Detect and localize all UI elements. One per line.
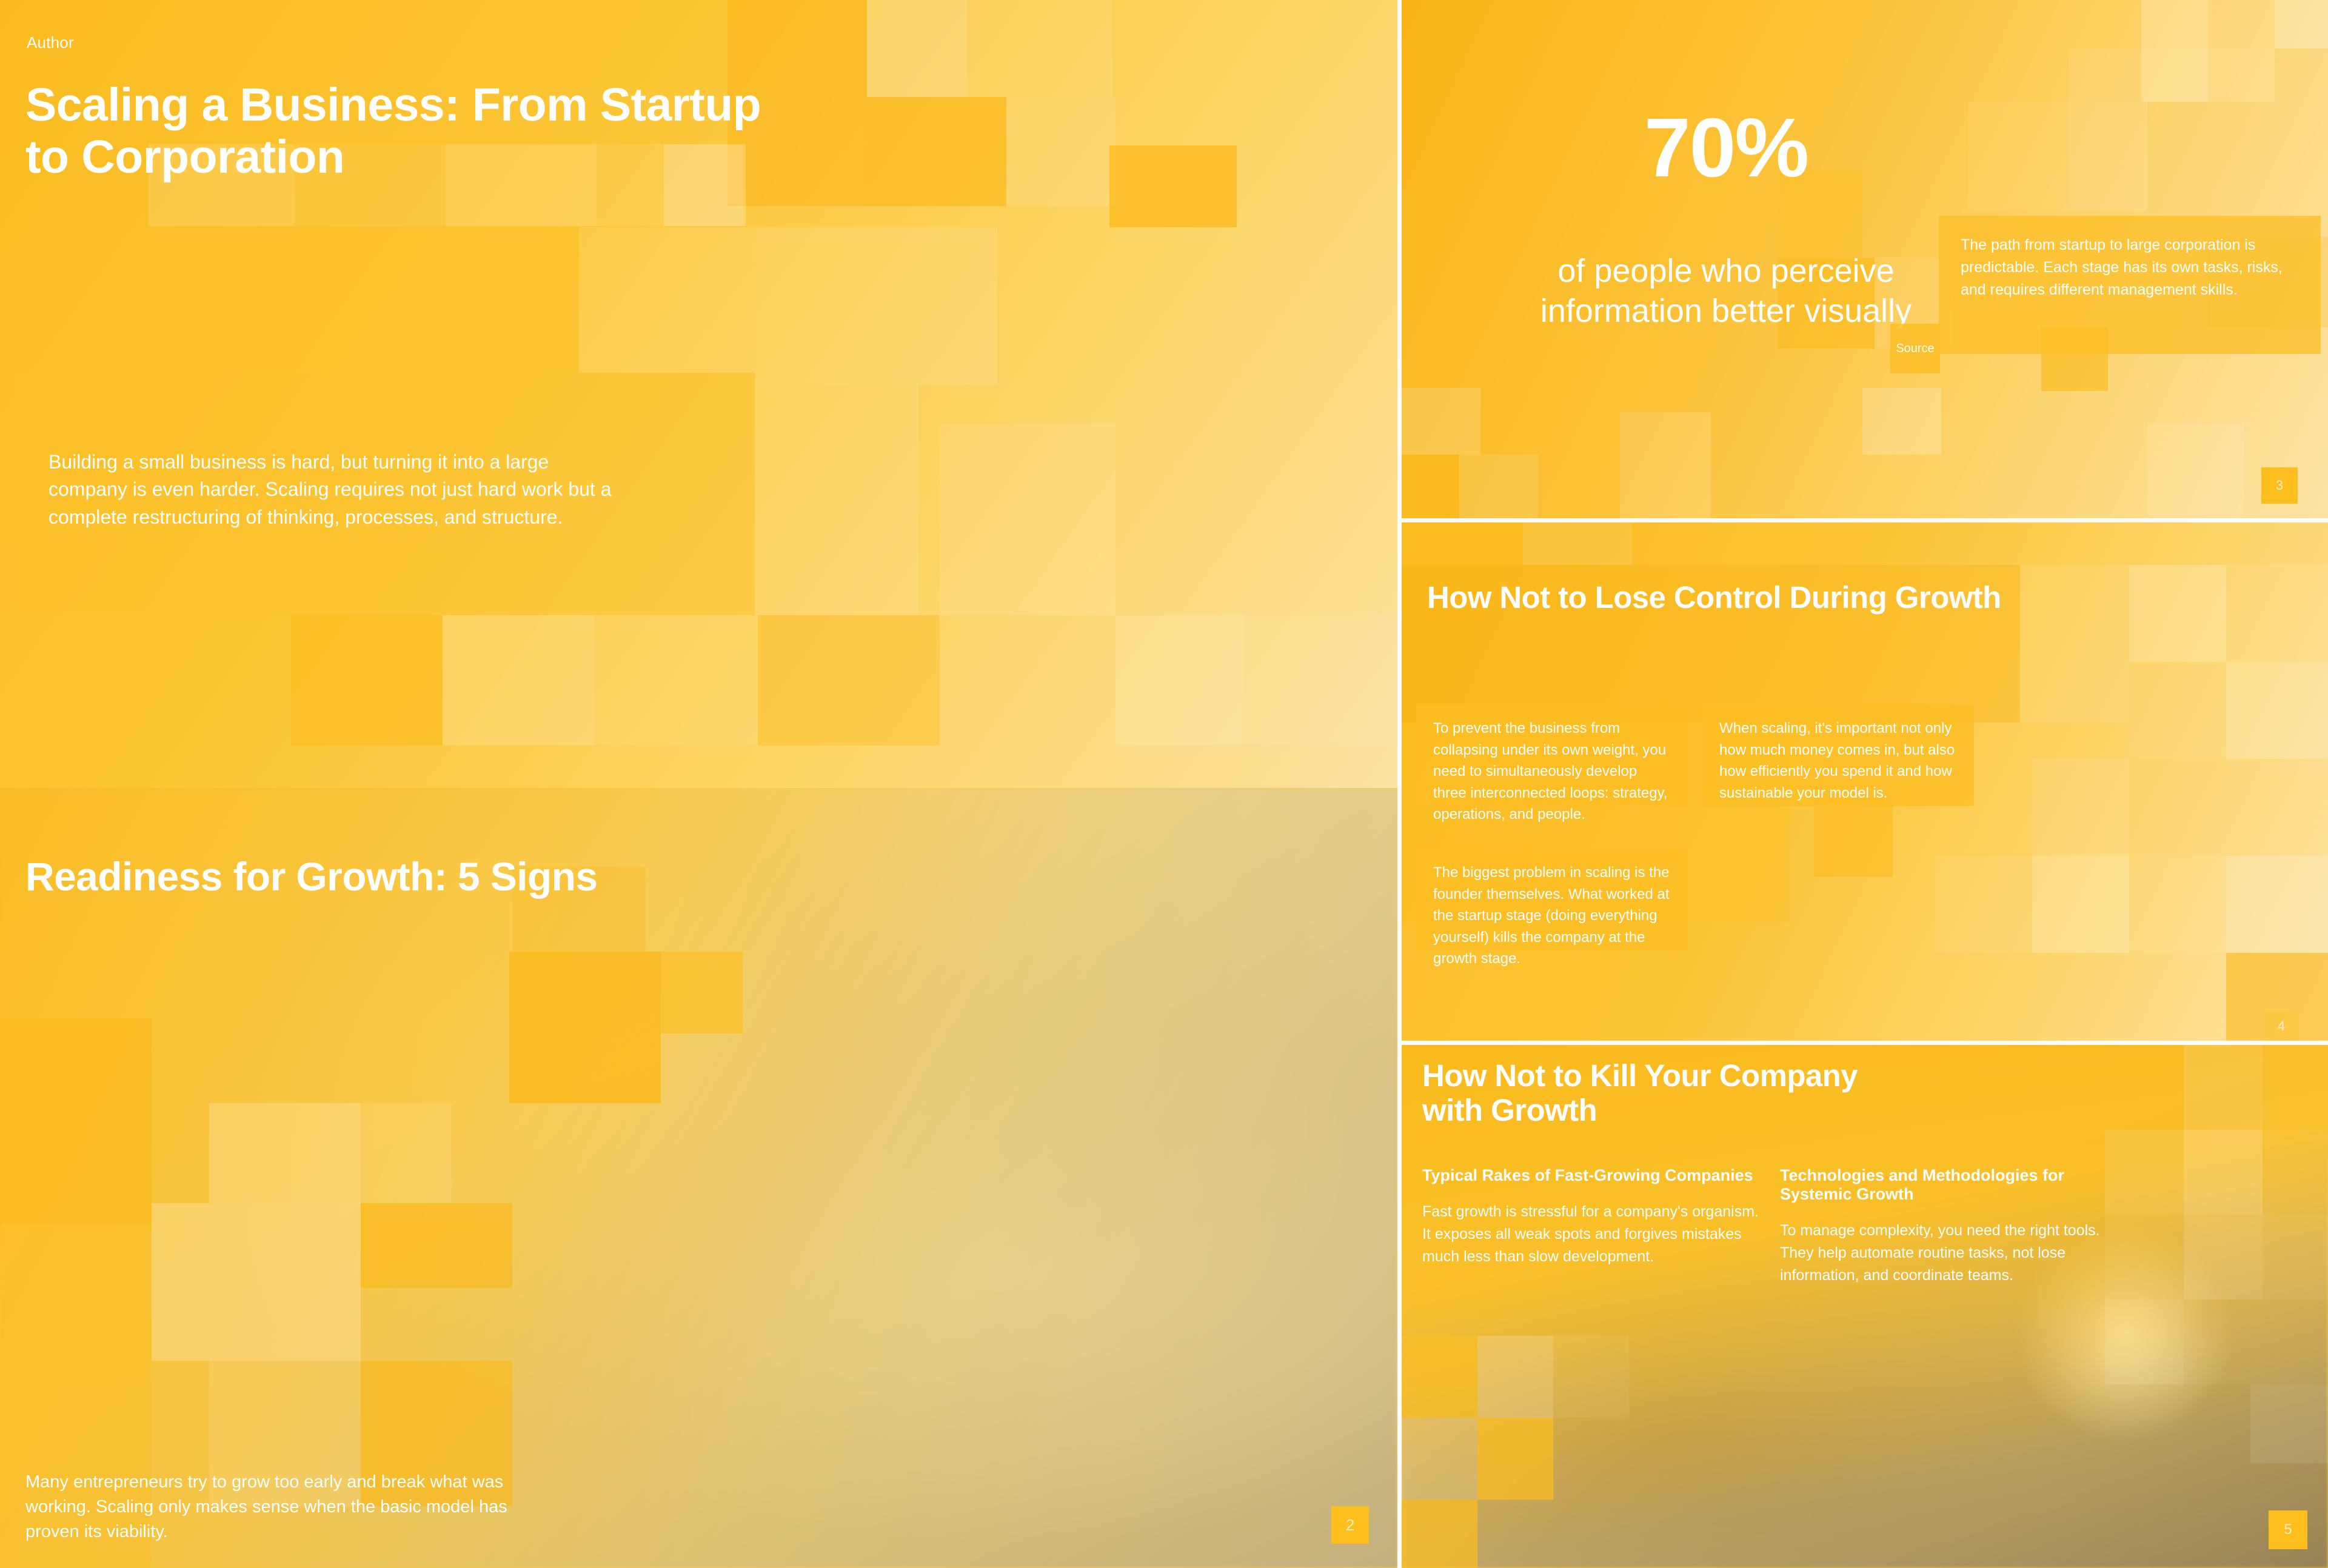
mosaic-tile: [443, 615, 594, 746]
content-column: Typical Rakes of Fast-Growing Companies …: [1422, 1166, 1762, 1263]
mosaic-tile: [361, 1203, 512, 1288]
mosaic-tile: [1968, 102, 2069, 211]
mosaic-tile: [2069, 102, 2147, 211]
page-number-badge: 3: [2261, 467, 2298, 504]
slide-kill[interactable]: How Not to Kill Your Company with Growth…: [1402, 1045, 2328, 1568]
mosaic-tile: [2032, 759, 2129, 856]
mosaic-tile: [1243, 615, 1397, 746]
stat-caption: of people who perceive information bette…: [1532, 252, 1920, 332]
mosaic-tile: [2147, 424, 2244, 518]
mosaic-tile: [2069, 48, 2141, 102]
mosaic-tile: [2226, 565, 2328, 662]
mosaic-tile: [2141, 48, 2208, 102]
slide-deck-preview: Author Scaling a Business: From Startup …: [0, 0, 2328, 1568]
content-column: Technologies and Methodologies for Syste…: [1780, 1166, 2119, 1263]
slide-title-text: How Not to Lose Control During Growth: [1427, 580, 2155, 615]
mosaic-tile: [2032, 856, 2129, 953]
slide-control[interactable]: How Not to Lose Control During Growth To…: [1402, 522, 2328, 1041]
mosaic-tile: [1109, 145, 1237, 227]
slide-title[interactable]: Author Scaling a Business: From Startup …: [0, 0, 1397, 788]
mosaic-tile: [1402, 522, 1523, 565]
mosaic-tile: [1402, 1418, 1477, 1500]
content-card-text: When scaling, it's important not only ho…: [1702, 704, 1974, 804]
mosaic-tile: [2208, 0, 2275, 48]
mosaic-tile: [579, 227, 755, 373]
source-chip[interactable]: Source: [1890, 324, 1940, 373]
mosaic-tile: [209, 1103, 361, 1203]
content-card-text: The biggest problem in scaling is the fo…: [1416, 849, 1688, 970]
content-card-text: To prevent the business from collapsing …: [1416, 704, 1688, 826]
mosaic-tile: [1459, 455, 1538, 518]
mosaic-tile: [1402, 1500, 1477, 1568]
mosaic-tile: [2184, 1215, 2263, 1299]
stat-number: 70%: [1568, 106, 1884, 190]
mosaic-tile: [755, 385, 918, 615]
mosaic-tile: [2129, 662, 2226, 759]
mosaic-tile: [967, 0, 1112, 97]
page-number-badge: 4: [2264, 1010, 2299, 1041]
mosaic-tile: [2208, 48, 2275, 102]
mosaic-tile: [1402, 455, 1459, 518]
mosaic-tile: [509, 952, 661, 1103]
side-note-card: The path from startup to large corporati…: [1939, 216, 2321, 354]
mosaic-tile: [152, 1203, 361, 1361]
side-note-text: The path from startup to large corporati…: [1939, 216, 2321, 301]
mosaic-tile: [2184, 1045, 2263, 1130]
mosaic-tile: [755, 227, 997, 385]
slide-title-text: How Not to Kill Your Company with Growth: [1422, 1058, 1895, 1127]
mosaic-tile: [2129, 856, 2226, 953]
mosaic-tile: [1553, 1336, 1629, 1418]
mosaic-tile: [661, 952, 743, 1033]
mosaic-tile: [291, 615, 443, 746]
slide-body-text: Many entrepreneurs try to grow too early…: [25, 1470, 510, 1545]
column-heading: Technologies and Methodologies for Syste…: [1780, 1166, 2119, 1204]
mosaic-tile: [594, 615, 758, 746]
mosaic-tile: [2184, 1130, 2263, 1215]
author-label: Author: [27, 33, 74, 52]
mosaic-tile: [361, 1103, 452, 1203]
mosaic-tile: [1402, 388, 1480, 455]
mosaic-tile: [1814, 795, 1893, 877]
mosaic-tile: [15, 227, 579, 373]
mosaic-tile: [1477, 1418, 1553, 1500]
mosaic-tile: [2141, 0, 2208, 48]
mosaic-tile: [2275, 0, 2328, 48]
mosaic-tile: [0, 1018, 152, 1224]
slide-stat[interactable]: 70% of people who perceive information b…: [1402, 0, 2328, 518]
mosaic-tile: [2250, 1384, 2328, 1463]
mosaic-tile: [1402, 1336, 1477, 1418]
mosaic-tile: [2263, 1215, 2328, 1299]
mosaic-tile: [2184, 1299, 2328, 1384]
mosaic-tile: [867, 0, 967, 97]
mosaic-tile: [1935, 856, 2032, 953]
mosaic-tile: [867, 97, 1006, 206]
mosaic-tile: [1115, 615, 1243, 746]
mosaic-tile: [2263, 1045, 2328, 1130]
content-card: To prevent the business from collapsing …: [1416, 704, 1688, 806]
mosaic-tile: [758, 615, 940, 746]
mosaic-tile: [1620, 412, 1711, 518]
mosaic-tile: [2226, 856, 2328, 953]
mosaic-tile: [1523, 522, 1632, 565]
column-text: Fast growth is stressful for a company's…: [1422, 1201, 1762, 1268]
mosaic-tile: [2105, 1299, 2184, 1384]
mosaic-pattern: [0, 788, 1397, 1568]
column-heading: Typical Rakes of Fast-Growing Companies: [1422, 1166, 1762, 1185]
slide-title-text: Readiness for Growth: 5 Signs: [25, 855, 995, 899]
mosaic-tile: [1477, 1336, 1553, 1418]
mosaic-tile: [2226, 662, 2328, 759]
page-number-badge: 2: [1331, 1506, 1369, 1544]
column-text: To manage complexity, you need the right…: [1780, 1219, 2119, 1287]
slide-body-text: Building a small business is hard, but t…: [48, 449, 612, 531]
mosaic-tile: [0, 1224, 152, 1382]
mosaic-tile: [1006, 97, 1115, 206]
slide-title-text: Scaling a Business: From Startup to Corp…: [25, 79, 801, 183]
mosaic-tile: [940, 424, 1115, 615]
content-card: The biggest problem in scaling is the fo…: [1416, 849, 1688, 950]
mosaic-tile: [2263, 1130, 2328, 1215]
slide-readiness[interactable]: Readiness for Growth: 5 Signs Many entre…: [0, 788, 1397, 1568]
mosaic-tile: [1862, 388, 1941, 455]
page-number-badge: 5: [2269, 1510, 2307, 1549]
content-card: When scaling, it's important not only ho…: [1702, 704, 1974, 806]
